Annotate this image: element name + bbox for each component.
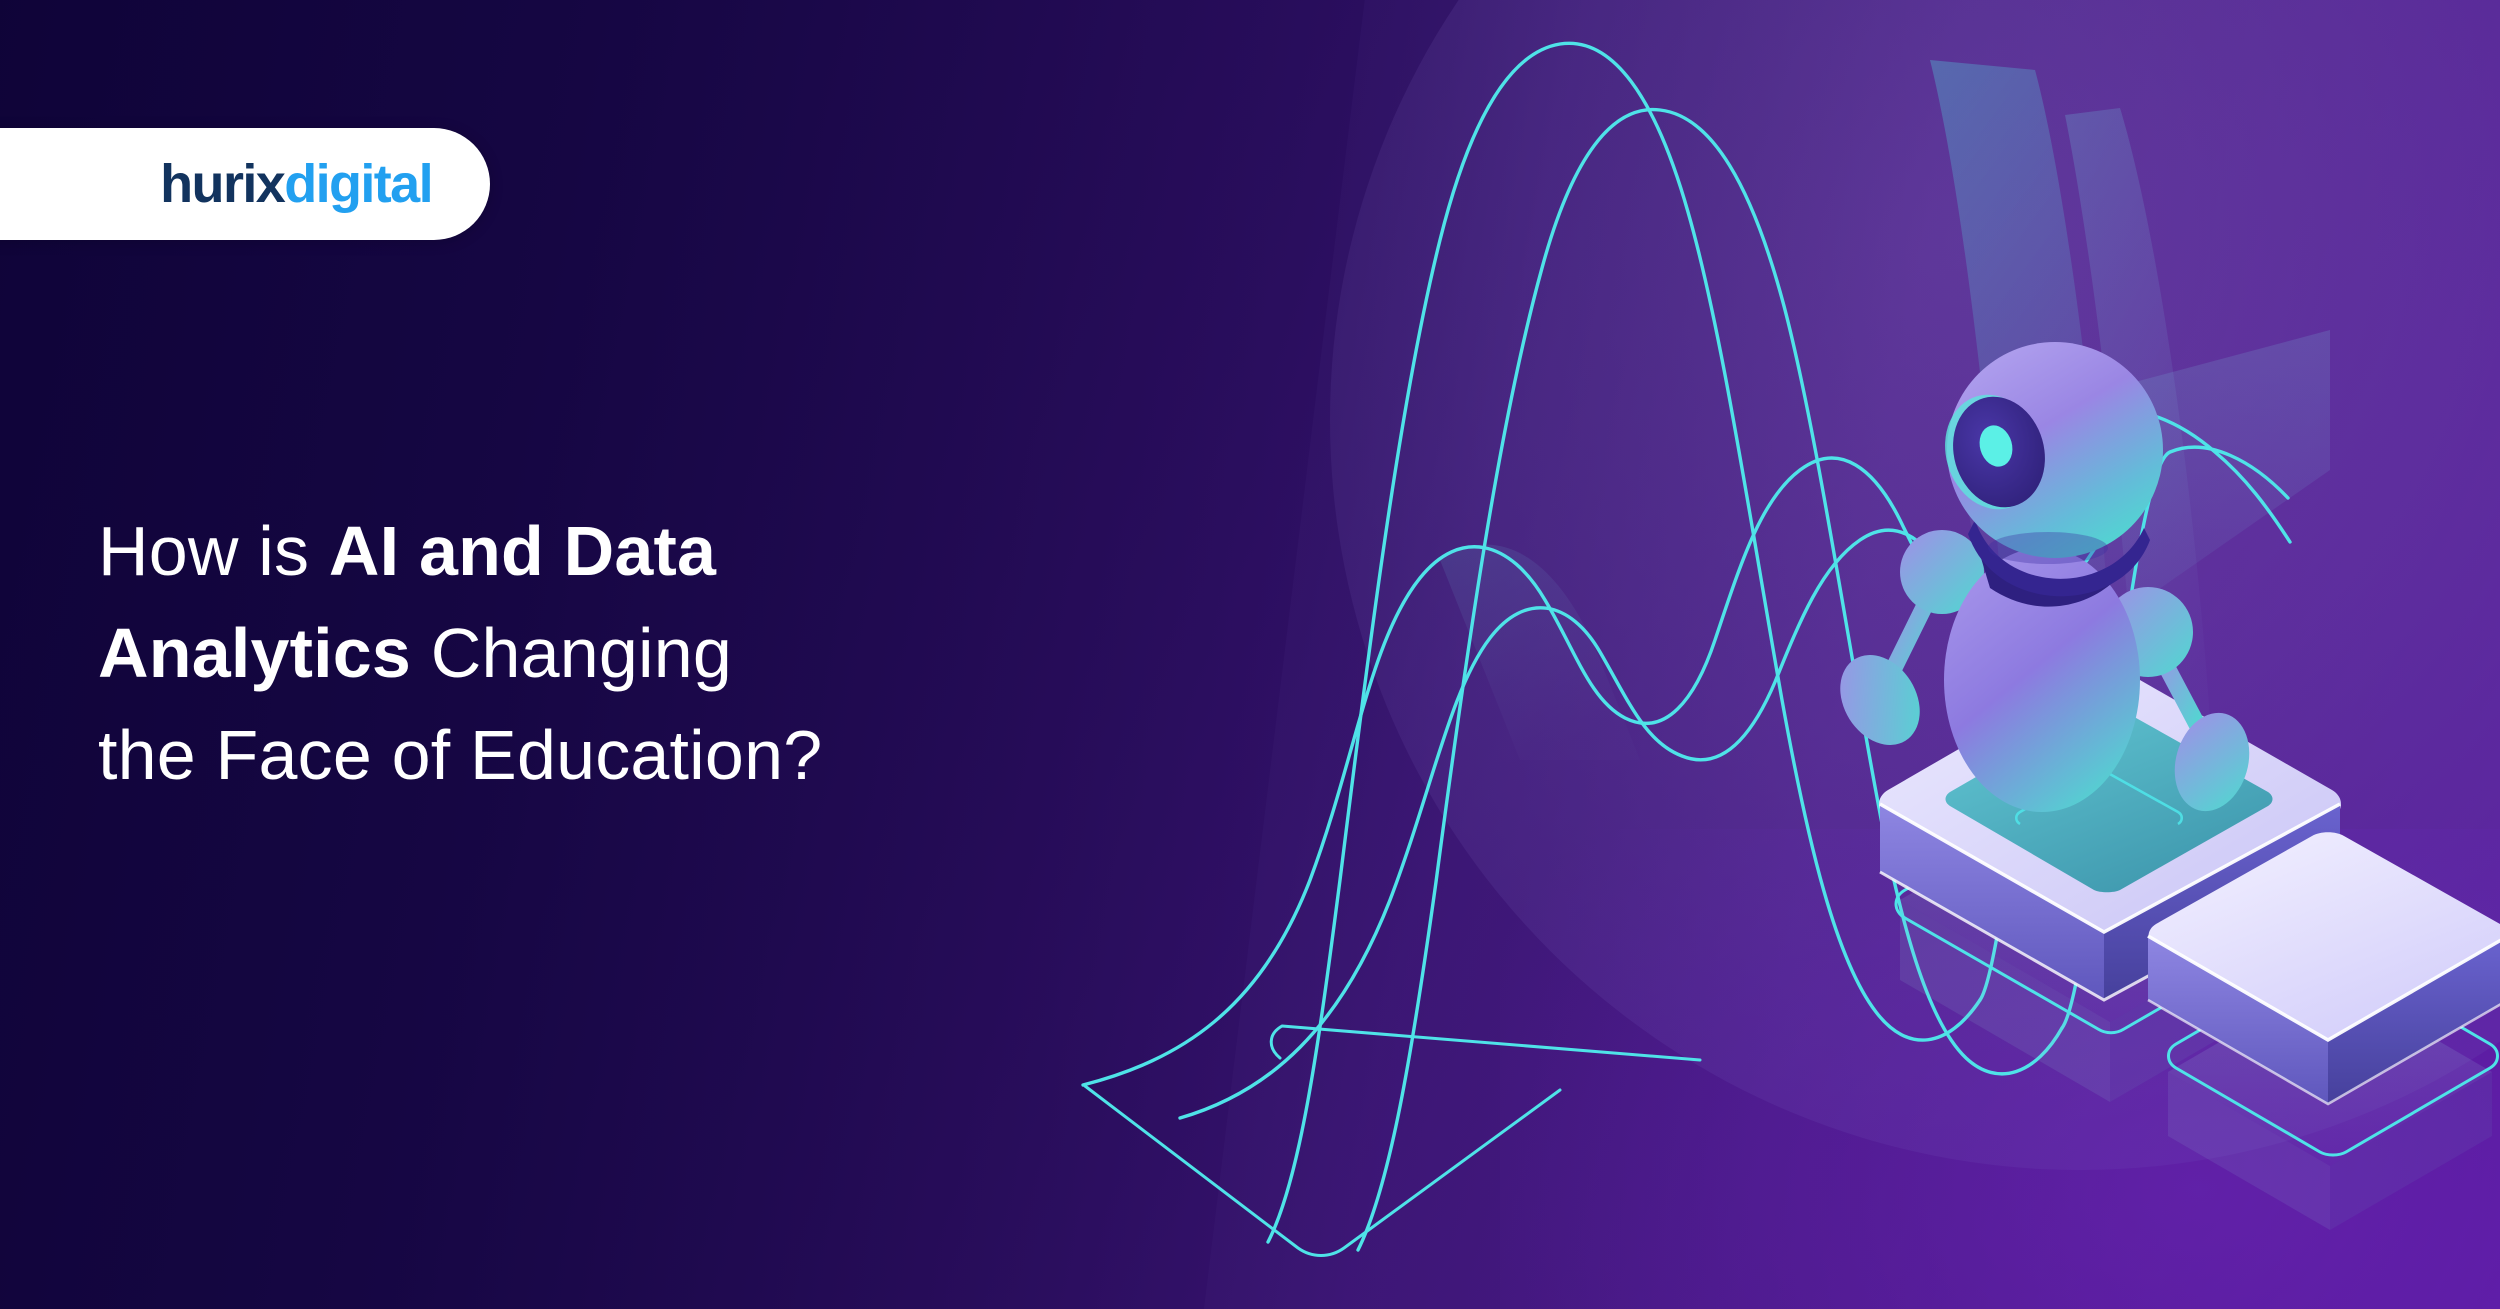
headline-line-1: How is AI and Data <box>98 500 1098 602</box>
brand-logo[interactable]: hurixdigital <box>0 128 490 240</box>
background-bottom-glow <box>1500 829 2500 1309</box>
logo-text-hurix: hurix <box>160 154 284 214</box>
headline-line-2-light: Changing <box>411 614 732 692</box>
logo-wordmark: hurixdigital <box>160 157 432 211</box>
headline-line-2: Analytics Changing <box>98 602 1098 704</box>
headline-block: How is AI and Data Analytics Changing th… <box>98 500 1098 806</box>
headline-line-1-light: How is <box>98 512 329 590</box>
headline-line-1-bold: AI and Data <box>329 512 716 590</box>
headline-line-3: the Face of Education? <box>98 704 1098 806</box>
headline-line-2-bold: Analytics <box>98 614 411 692</box>
logo-text-digital: digital <box>284 154 432 214</box>
banner-canvas: hurixdigital How is AI and Data Analytic… <box>0 0 2500 1309</box>
